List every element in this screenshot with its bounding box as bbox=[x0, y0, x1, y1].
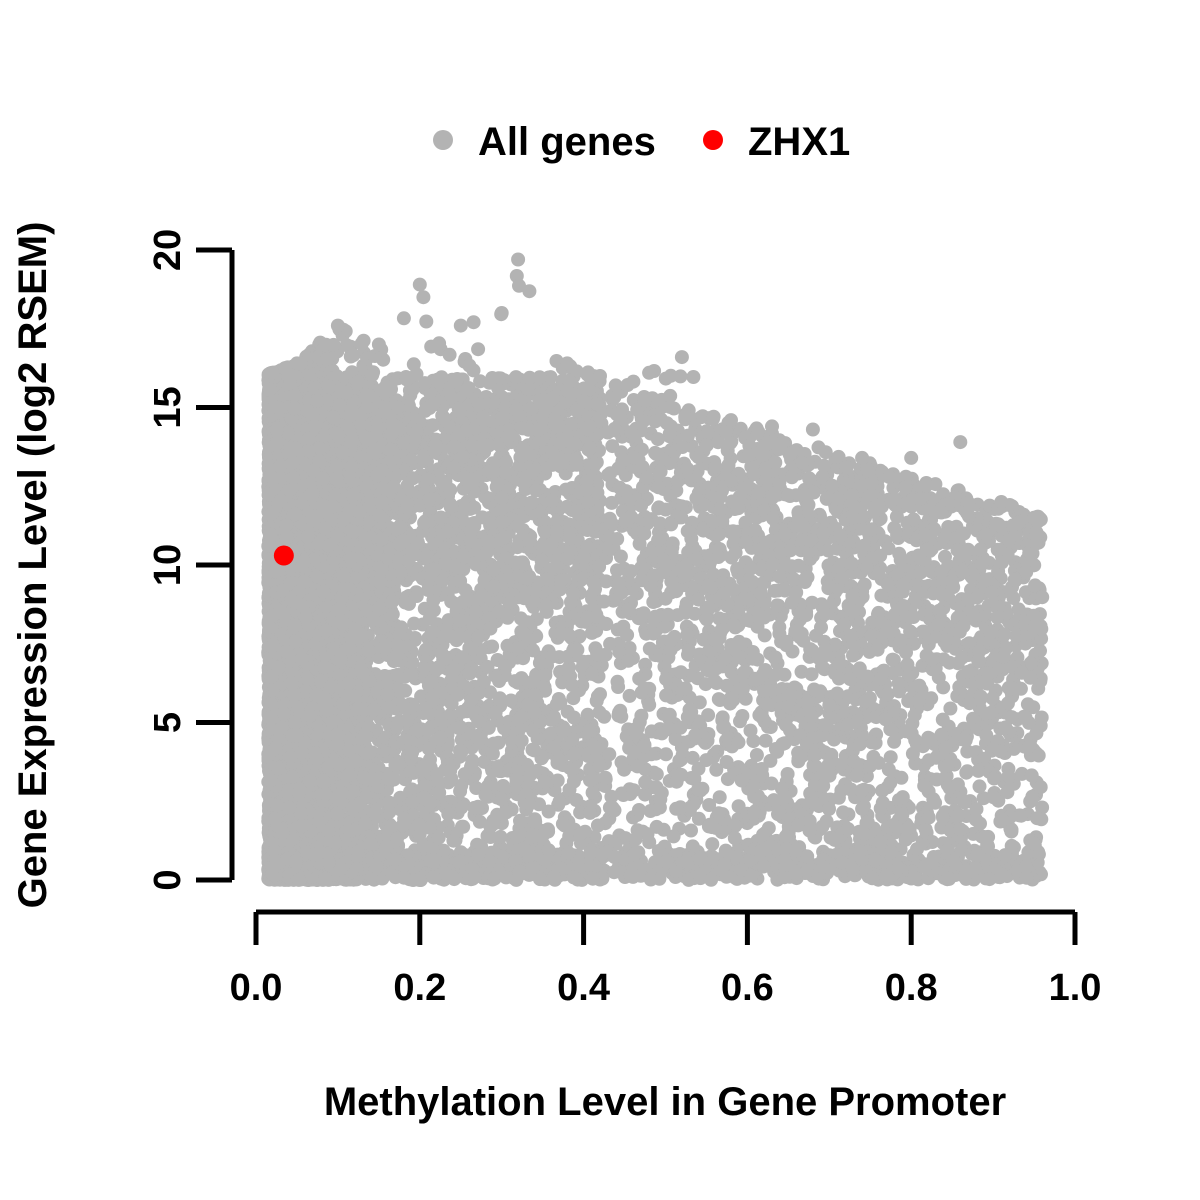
x-tick-label: 0.2 bbox=[393, 967, 446, 1009]
y-tick-label: 20 bbox=[147, 229, 189, 271]
y-tick-label: 5 bbox=[147, 712, 189, 733]
legend: All genes ZHX1 bbox=[433, 120, 850, 164]
x-tick-label: 0.0 bbox=[230, 967, 283, 1009]
legend-label-zhx1: ZHX1 bbox=[748, 120, 850, 164]
legend-label-all-genes: All genes bbox=[478, 120, 656, 164]
legend-marker-all-genes bbox=[433, 130, 453, 150]
data-series-zhx1 bbox=[274, 546, 294, 566]
y-tick-label: 10 bbox=[147, 544, 189, 586]
x-axis-title: Methylation Level in Gene Promoter bbox=[324, 1080, 1006, 1124]
y-tick-label: 0 bbox=[147, 869, 189, 890]
data-point-zhx1 bbox=[274, 546, 294, 566]
y-tick-label: 15 bbox=[147, 386, 189, 428]
x-tick-label: 1.0 bbox=[1049, 967, 1102, 1009]
scatter-plot-figure: 05101520 Gene Expression Level (log2 RSE… bbox=[0, 0, 1200, 1200]
y-axis-title: Gene Expression Level (log2 RSEM) bbox=[11, 222, 55, 909]
plot-canvas: 05101520 Gene Expression Level (log2 RSE… bbox=[0, 0, 1200, 1200]
x-tick-label: 0.6 bbox=[721, 967, 774, 1009]
x-tick-label: 0.4 bbox=[557, 967, 610, 1009]
legend-marker-zhx1 bbox=[703, 130, 723, 150]
x-tick-label: 0.8 bbox=[885, 967, 938, 1009]
